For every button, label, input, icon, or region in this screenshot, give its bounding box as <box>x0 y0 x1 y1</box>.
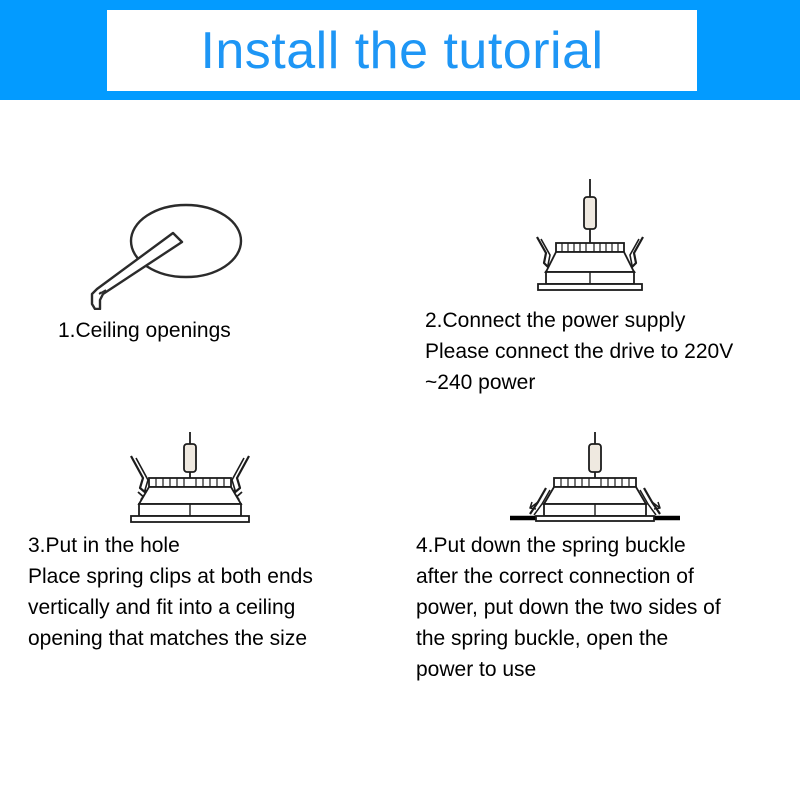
step-3: 3.Put in the hole Place spring clips at … <box>0 430 400 654</box>
downlight-with-driver-icon <box>500 175 680 300</box>
steps-container: 1.Ceiling openings <box>0 100 800 800</box>
title-box: Install the tutorial <box>107 10 697 91</box>
hole-saw-ceiling-opening-icon <box>70 190 260 310</box>
downlight-installed-ceiling-icon <box>500 430 690 530</box>
step-4-text: 4.Put down the spring buckle after the c… <box>400 530 800 685</box>
step-2-figure <box>400 175 800 305</box>
step-2: 2.Connect the power supply Please connec… <box>400 175 800 398</box>
step-3-text: 3.Put in the hole Place spring clips at … <box>0 530 400 654</box>
step-4-figure <box>400 430 800 530</box>
step-1-figure <box>0 190 390 315</box>
step-1: 1.Ceiling openings <box>0 190 390 346</box>
page-title: Install the tutorial <box>200 25 603 77</box>
step-2-text: 2.Connect the power supply Please connec… <box>400 305 800 398</box>
step-4: 4.Put down the spring buckle after the c… <box>400 430 800 685</box>
step-1-text: 1.Ceiling openings <box>0 315 390 346</box>
downlight-springs-up-icon <box>105 430 275 530</box>
header-banner: Install the tutorial <box>0 0 800 100</box>
step-3-figure <box>0 430 400 530</box>
